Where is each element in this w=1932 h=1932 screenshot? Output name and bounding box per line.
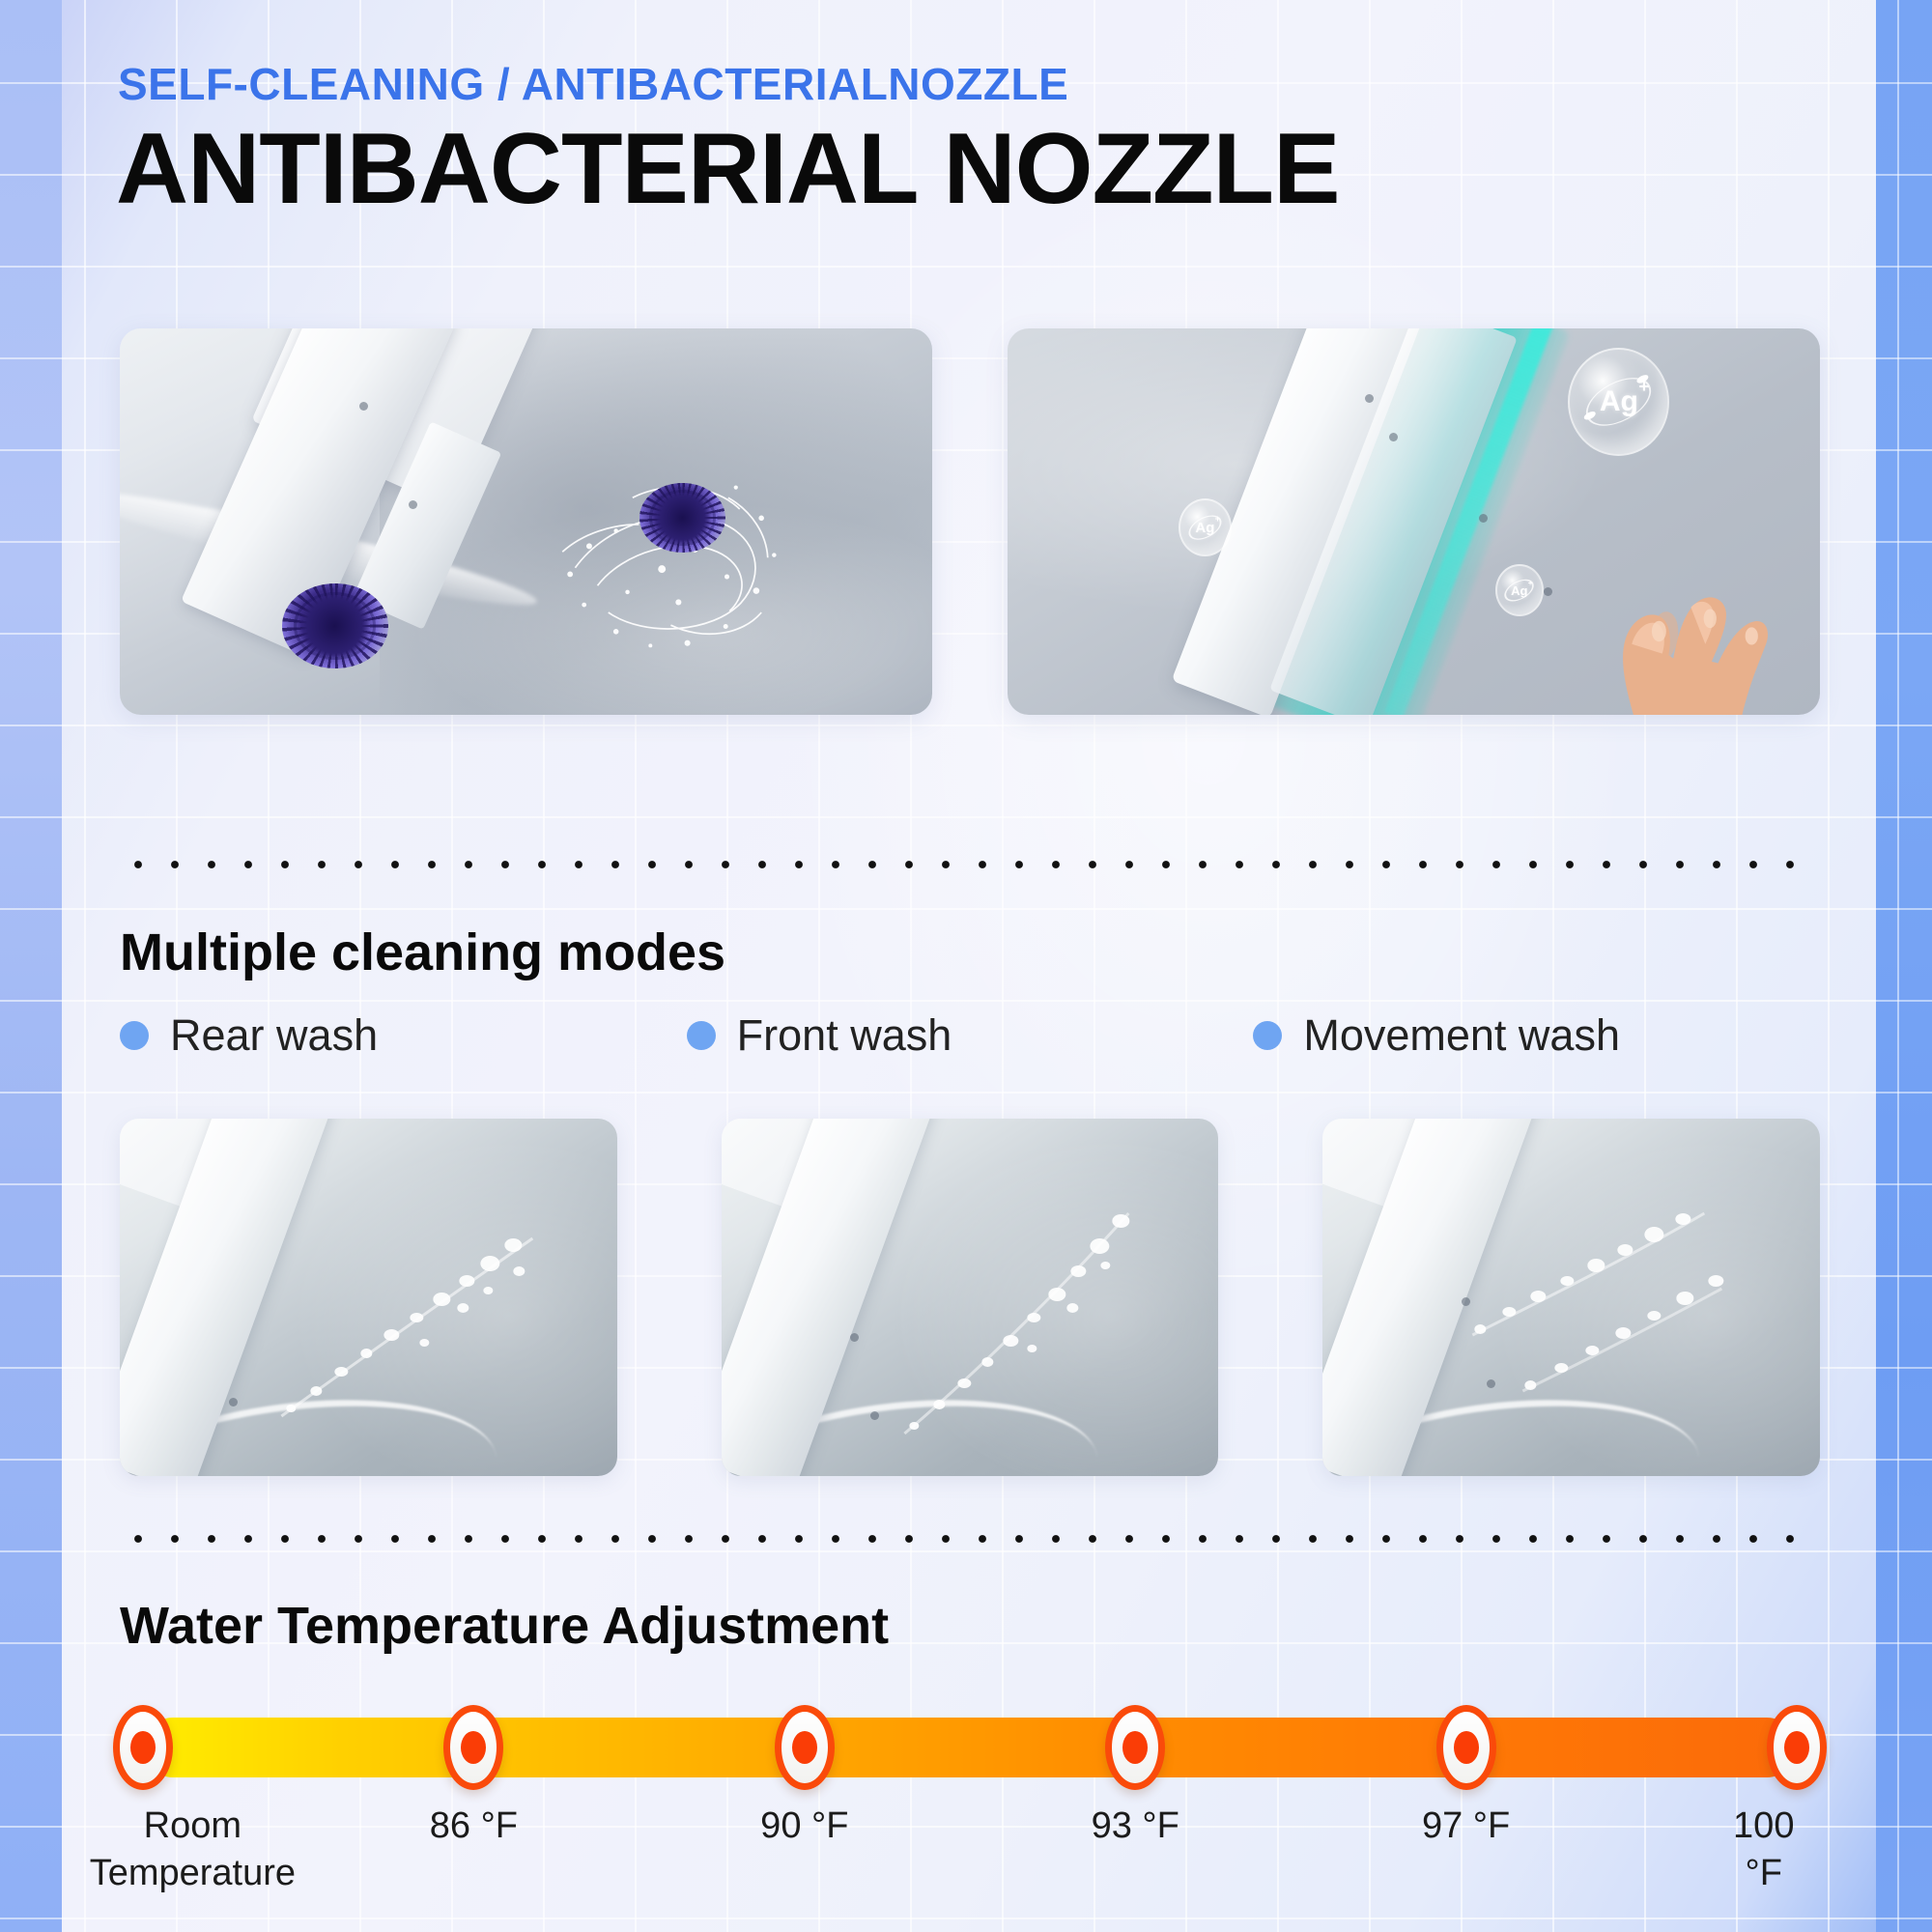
mode-item-movement-wash[interactable]: Movement wash xyxy=(1253,1005,1820,1066)
mode-image-row xyxy=(120,1119,1820,1476)
temperature-marker-1[interactable] xyxy=(443,1705,503,1790)
temperature-label-room: Room Temperature xyxy=(90,1803,296,1896)
temperature-marker-4[interactable] xyxy=(1436,1705,1496,1790)
nozzle-port-icon xyxy=(1479,514,1488,523)
marker-core xyxy=(792,1731,817,1764)
temperature-marker-0[interactable] xyxy=(113,1705,173,1790)
ag-symbol: Ag xyxy=(1600,385,1638,417)
temperature-marker-5[interactable] xyxy=(1767,1705,1827,1790)
mode-label-row: Rear wash Front wash Movement wash xyxy=(120,1005,1820,1066)
ag-ion-bubble-icon: Ag+ xyxy=(1179,498,1233,556)
hero-image-row: Ag+ Ag+ Ag+ xyxy=(120,328,1820,715)
nozzle-self-cleaning-photo xyxy=(120,328,932,715)
temperature-section-title: Water Temperature Adjustment xyxy=(120,1596,889,1656)
water-spray-graphic xyxy=(722,1119,1219,1476)
divider-bottom xyxy=(120,1534,1820,1544)
page-title: ANTIBACTERIAL NOZZLE xyxy=(116,114,1339,224)
ag-label: Ag+ xyxy=(1195,520,1214,536)
temperature-marker-2[interactable] xyxy=(775,1705,835,1790)
temperature-label-row: Room Temperature 86 °F 90 °F 93 °F 97 °F… xyxy=(143,1803,1797,1909)
temperature-label-93f: 93 °F xyxy=(1092,1803,1179,1850)
marker-core xyxy=(1122,1731,1148,1764)
mode-photo-movement-wash xyxy=(1322,1119,1820,1476)
nozzle-port-icon xyxy=(1365,394,1374,403)
temperature-label-86f: 86 °F xyxy=(430,1803,518,1850)
mode-item-front-wash[interactable]: Front wash xyxy=(687,1005,1254,1066)
bacteria-icon xyxy=(282,583,387,668)
water-spray-graphic xyxy=(120,1119,617,1476)
ag-orbit-node xyxy=(1583,410,1598,421)
water-spray-graphic xyxy=(1322,1119,1820,1476)
bullet-dot-icon xyxy=(687,1021,716,1050)
nozzle-port-icon xyxy=(409,500,417,509)
mode-item-rear-wash[interactable]: Rear wash xyxy=(120,1005,687,1066)
divider-top xyxy=(120,860,1820,869)
ag-label: Ag+ xyxy=(1600,385,1638,418)
antibacterial-nozzle-photo: Ag+ Ag+ Ag+ xyxy=(1008,328,1820,715)
hand-graphic xyxy=(1527,491,1804,715)
marker-core xyxy=(1784,1731,1809,1764)
bacteria-spikes xyxy=(639,483,724,553)
mode-label-text: Movement wash xyxy=(1303,1010,1620,1061)
ag-ion-bubble-icon: Ag+ xyxy=(1568,348,1669,456)
marker-core xyxy=(130,1731,156,1764)
temperature-track[interactable] xyxy=(143,1718,1797,1777)
temperature-label-100f: 100 °F xyxy=(1733,1803,1794,1896)
mode-label-text: Front wash xyxy=(737,1010,952,1061)
ag-plus-superscript: + xyxy=(1639,376,1650,397)
mode-photo-front-wash xyxy=(722,1119,1219,1476)
bullet-dot-icon xyxy=(120,1021,149,1050)
mode-photo-rear-wash xyxy=(120,1119,617,1476)
temperature-marker-3[interactable] xyxy=(1105,1705,1165,1790)
bacteria-spikes xyxy=(282,583,387,668)
modes-section-title: Multiple cleaning modes xyxy=(120,923,725,982)
bacteria-icon xyxy=(639,483,724,553)
temperature-label-90f: 90 °F xyxy=(760,1803,848,1850)
bullet-dot-icon xyxy=(1253,1021,1282,1050)
mode-label-text: Rear wash xyxy=(170,1010,378,1061)
ag-label: Ag+ xyxy=(1511,583,1527,598)
eyebrow-subtitle: SELF-CLEANING / ANTIBACTERIALNOZZLE xyxy=(118,58,1068,110)
marker-core xyxy=(1454,1731,1479,1764)
temperature-label-97f: 97 °F xyxy=(1422,1803,1510,1850)
marker-core xyxy=(461,1731,486,1764)
